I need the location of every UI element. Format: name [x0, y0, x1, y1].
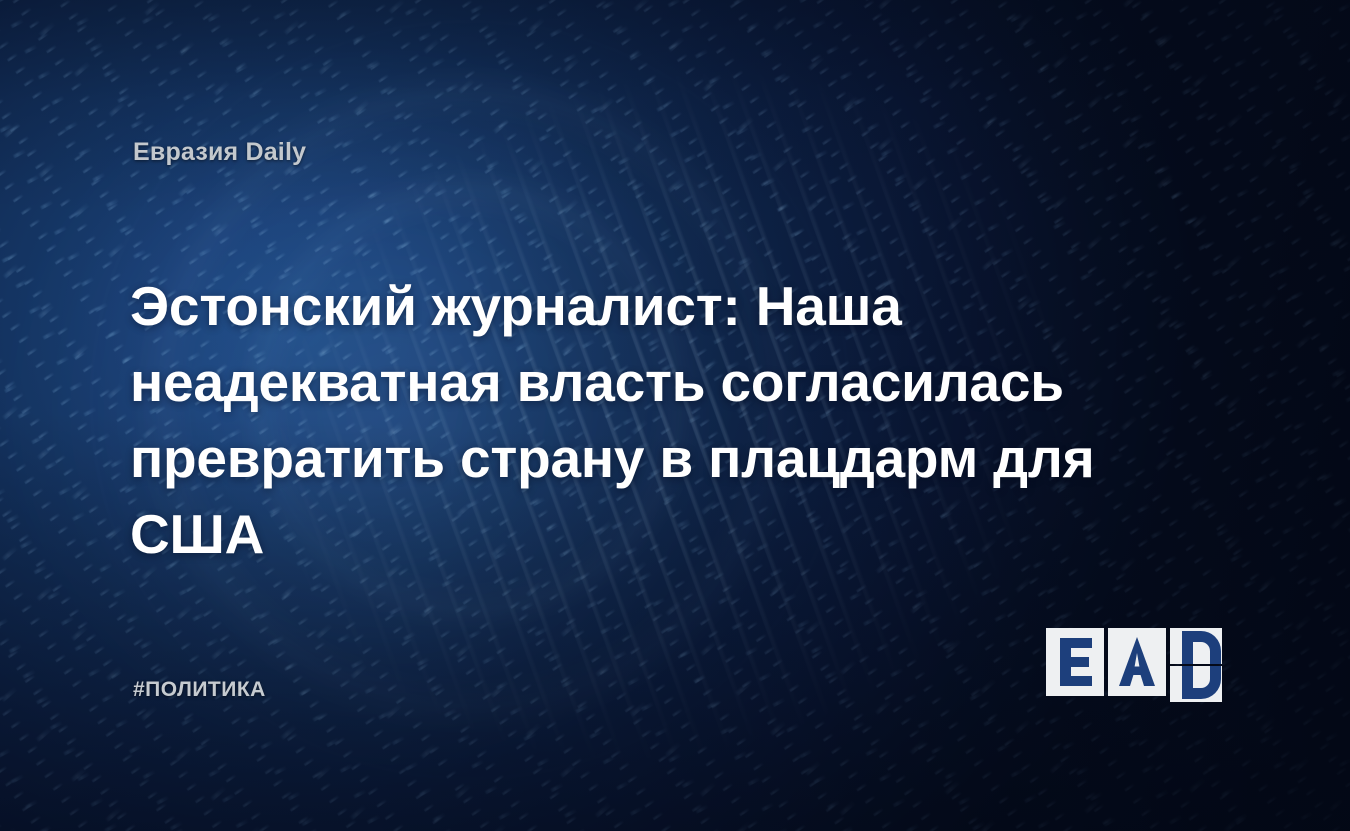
category-tag-politics: #ПОЛИТИКА [133, 678, 266, 702]
eadaily-logo-letter-e [1046, 628, 1104, 696]
eadaily-logo-letter-d [1170, 628, 1228, 702]
page-title: Эстонский журналист: Наша неадекватная в… [130, 268, 1240, 572]
eadaily-logo [1046, 628, 1230, 702]
brand-wordmark: Евразия Daily [133, 138, 306, 167]
news-share-card: Евразия Daily Эстонский журналист: Наша … [0, 0, 1350, 831]
eadaily-logo-letter-a [1108, 628, 1166, 696]
